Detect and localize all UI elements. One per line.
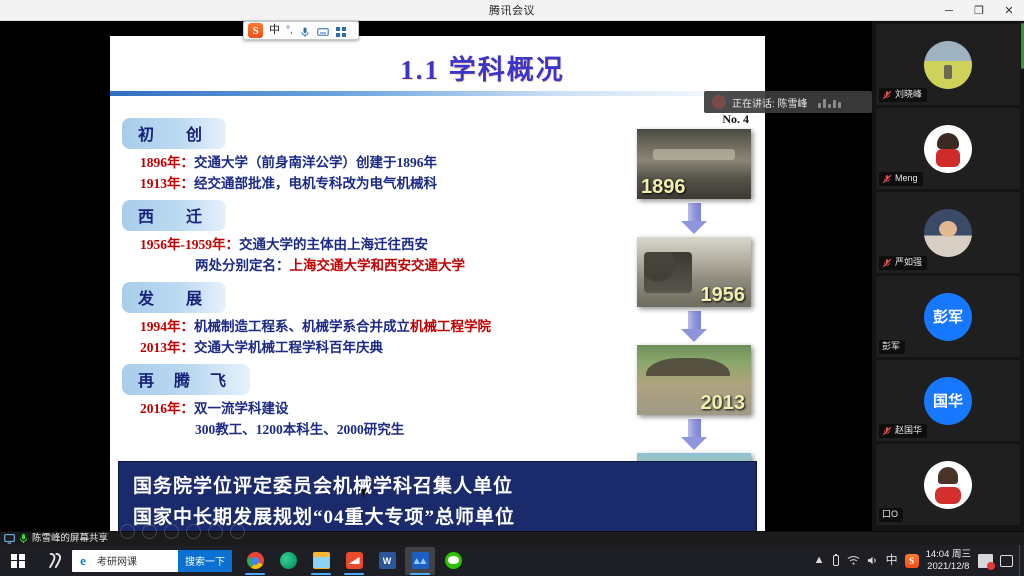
- banner-line: 国务院学位评定委员会机械学科召集人单位: [133, 471, 756, 498]
- bullet-text: 300教工、1200本科生、2000研究生: [195, 422, 404, 437]
- audio-wave-icon: [818, 97, 841, 108]
- maximize-button[interactable]: ❐: [964, 0, 994, 21]
- ime-punctuation-toggle[interactable]: °,: [286, 26, 293, 36]
- bullet-text: 交通大学的主体由上海迁往西安: [239, 237, 428, 252]
- search-query[interactable]: 考研网课: [94, 553, 178, 568]
- participant-tile[interactable]: 口O: [876, 444, 1020, 525]
- mic-muted-icon: [882, 174, 892, 184]
- taskbar-app-edge[interactable]: [273, 547, 303, 575]
- chevron-up-icon[interactable]: ▲: [814, 555, 825, 566]
- grid-icon[interactable]: [335, 25, 347, 37]
- clock-time: 14:04 周三: [926, 549, 971, 561]
- bullet-year: 2016年：: [140, 401, 194, 416]
- avatar: [924, 209, 972, 257]
- photo-year-label: 1896: [641, 176, 686, 199]
- taskbar-app-word[interactable]: W: [372, 547, 402, 575]
- sogou-tray-icon[interactable]: S: [905, 554, 919, 568]
- bullet-year: 1956年-1959年：: [140, 237, 239, 252]
- powerpoint-slide: 1.1 学科概况 No. 4 初 创 1896年：交通大学（前身南洋公学）创建于…: [110, 36, 765, 545]
- taskbar-clock[interactable]: 14:04 周三 2021/12/8: [926, 549, 971, 572]
- participant-tile[interactable]: 刘晓峰: [876, 24, 1020, 105]
- ime-mode-toggle[interactable]: 中: [269, 25, 280, 36]
- next-slide-button[interactable]: [142, 524, 157, 539]
- participant-name: 刘晓峰: [895, 89, 922, 100]
- search-input[interactable]: e 考研网课 搜索一下: [72, 550, 232, 572]
- section-pill: 西 迁: [122, 200, 226, 231]
- mic-muted-icon: [882, 426, 892, 436]
- bullet-line: 1896年：交通大学（前身南洋公学）创建于1896年: [140, 152, 612, 173]
- bullet-line: 1956年-1959年：交通大学的主体由上海迁往西安: [140, 234, 612, 255]
- section-bullets: 1956年-1959年：交通大学的主体由上海迁往西安 两处分别定名：上海交通大学…: [140, 234, 612, 276]
- participant-label: 刘晓峰: [879, 88, 927, 102]
- photo-year-label: 2013: [701, 392, 746, 415]
- more-options-button[interactable]: [230, 524, 245, 539]
- bullet-line: 300教工、1200本科生、2000研究生: [140, 419, 612, 440]
- bullet-line: 1994年：机械制造工程系、机械学系合并成立机械工程学院: [140, 316, 612, 337]
- section-bullets: 2016年：双一流学科建设 300教工、1200本科生、2000研究生: [140, 398, 612, 440]
- mic-muted-icon: [882, 90, 892, 100]
- bullet-year: 1994年：: [140, 319, 194, 334]
- window-controls: ─ ❐ ✕: [934, 0, 1024, 21]
- slide-content-column: 初 创 1896年：交通大学（前身南洋公学）创建于1896年 1913年：经交通…: [122, 118, 612, 446]
- taskbar-app-chrome[interactable]: [240, 547, 270, 575]
- slide-page-number: No. 4: [722, 112, 749, 127]
- participant-label: 严如强: [879, 256, 927, 270]
- bullet-text: 机械制造工程系、机械学系合并成立: [194, 319, 410, 334]
- taskbar-app-tencent-meeting[interactable]: [405, 547, 435, 575]
- edge-legacy-icon: e: [72, 553, 94, 569]
- notification-icon[interactable]: [978, 554, 993, 568]
- keyboard-icon[interactable]: [317, 25, 329, 37]
- share-owner-label: 陈雪峰的屏幕共享: [32, 533, 108, 544]
- participant-name: 彭军: [882, 341, 900, 352]
- participant-name: Meng: [895, 173, 918, 184]
- slide-section: 初 创 1896年：交通大学（前身南洋公学）创建于1896年 1913年：经交通…: [122, 118, 612, 194]
- bullet-line: 2016年：双一流学科建设: [140, 398, 612, 419]
- minimize-button[interactable]: ─: [934, 0, 964, 21]
- pen-tool-button[interactable]: [164, 524, 179, 539]
- mic-icon[interactable]: [299, 25, 311, 37]
- section-bullets: 1994年：机械制造工程系、机械学系合并成立机械工程学院 2013年：交通大学机…: [140, 316, 612, 358]
- meeting-icon: [412, 552, 429, 569]
- speaking-indicator: 正在讲话: 陈雪峰: [704, 91, 872, 113]
- volume-icon[interactable]: [867, 555, 879, 566]
- wechat-icon: [445, 552, 462, 569]
- wifi-icon[interactable]: [847, 555, 860, 566]
- timeline-photo-2013: 2013: [637, 345, 751, 415]
- slideshow-controls[interactable]: [120, 524, 245, 539]
- mic-green-icon: [19, 533, 28, 544]
- bullet-text: 交通大学机械工程学科百年庆典: [194, 340, 383, 355]
- word-icon: W: [379, 552, 396, 569]
- bullet-text: 双一流学科建设: [194, 401, 289, 416]
- bullet-text: 交通大学（前身南洋公学）创建于1896年: [194, 155, 437, 170]
- bullet-year: 1913年：: [140, 176, 194, 191]
- bullet-text: 经交通部批准，电机专科改为电气机械科: [194, 176, 437, 191]
- taskbar-app-wechat[interactable]: [438, 547, 468, 575]
- speaking-label: 正在讲话: 陈雪峰: [732, 95, 808, 110]
- ime-indicator[interactable]: 中: [886, 555, 898, 566]
- taskbar-app-file-explorer[interactable]: [306, 547, 336, 575]
- windows-logo-icon: [11, 554, 25, 568]
- participant-tile[interactable]: 国华 赵国华: [876, 360, 1020, 441]
- section-pill: 初 创: [122, 118, 226, 149]
- red-app-icon: [346, 552, 363, 569]
- avatar: 彭军: [924, 293, 972, 341]
- system-tray: ▲ 中 S 14:04 周三 2021/12/8: [814, 549, 1019, 572]
- window-titlebar: 腾讯会议 ─ ❐ ✕: [0, 0, 1024, 21]
- bullet-year: 2013年：: [140, 340, 194, 355]
- sogou-ime-toolbar[interactable]: S 中 °,: [243, 21, 359, 40]
- bullet-line: 两处分别定名：上海交通大学和西安交通大学: [140, 255, 612, 276]
- down-arrow-icon: [676, 417, 712, 451]
- edge-icon: [280, 552, 297, 569]
- participant-tile[interactable]: Meng: [876, 108, 1020, 189]
- participant-name: 口O: [882, 509, 898, 520]
- window-title: 腾讯会议: [0, 2, 1024, 18]
- bullet-accent: 上海交通大学和西安交通大学: [290, 258, 466, 273]
- windows-taskbar: e 考研网课 搜索一下 W ▲ 中 S 14:04 周三 2021/12/8: [0, 545, 1024, 576]
- avatar: [924, 41, 972, 89]
- participant-rail[interactable]: 刘晓峰 Meng 严如强 彭军 彭军 国华: [872, 21, 1024, 545]
- slide-section: 发 展 1994年：机械制造工程系、机械学系合并成立机械工程学院 2013年：交…: [122, 282, 612, 358]
- taskbar-app-media[interactable]: [339, 547, 369, 575]
- timeline-photo-1896: 1896: [637, 129, 751, 199]
- title-divider: [110, 91, 765, 96]
- close-button[interactable]: ✕: [994, 0, 1024, 21]
- bullet-accent: 机械工程学院: [410, 319, 491, 334]
- section-pill: 发 展: [122, 282, 226, 313]
- slide-section: 西 迁 1956年-1959年：交通大学的主体由上海迁往西安 两处分别定名：上海…: [122, 200, 612, 276]
- slide-overview-button[interactable]: [186, 524, 201, 539]
- monitor-icon: [4, 534, 15, 544]
- participant-name: 严如强: [895, 257, 922, 268]
- taskbar-apps: W: [240, 547, 468, 575]
- participant-label: 彭军: [879, 340, 905, 354]
- cortana-icon[interactable]: [36, 545, 70, 576]
- participant-label: 赵国华: [879, 424, 927, 438]
- participant-label: 口O: [879, 508, 903, 522]
- battery-icon[interactable]: [832, 554, 840, 567]
- bullet-text: 两处分别定名：: [195, 258, 290, 273]
- section-pill: 再 腾 飞: [122, 364, 250, 395]
- avatar: [924, 125, 972, 173]
- avatar: [924, 461, 972, 509]
- sogou-logo-icon[interactable]: S: [248, 23, 263, 38]
- participant-tile[interactable]: 严如强: [876, 192, 1020, 273]
- avatar: 国华: [924, 377, 972, 425]
- timeline-photo-1956: 1956: [637, 237, 751, 307]
- participant-label: Meng: [879, 172, 923, 186]
- prev-slide-button[interactable]: [120, 524, 135, 539]
- message-icon[interactable]: [1000, 555, 1013, 567]
- bullet-line: 1913年：经交通部批准，电机专科改为电气机械科: [140, 173, 612, 194]
- participant-name: 赵国华: [895, 425, 922, 436]
- chrome-icon: [247, 552, 264, 569]
- search-submit-button[interactable]: 搜索一下: [178, 550, 232, 572]
- down-arrow-icon: [676, 309, 712, 343]
- section-bullets: 1896年：交通大学（前身南洋公学）创建于1896年 1913年：经交通部批准，…: [140, 152, 612, 194]
- start-button[interactable]: [0, 545, 36, 576]
- participant-tile[interactable]: 彭军 彭军: [876, 276, 1020, 357]
- slide-section: 再 腾 飞 2016年：双一流学科建设 300教工、1200本科生、2000研究…: [122, 364, 612, 440]
- speaker-avatar: [712, 95, 726, 109]
- bullet-year: 1896年：: [140, 155, 194, 170]
- mic-muted-icon: [882, 258, 892, 268]
- bullet-line: 2013年：交通大学机械工程学科百年庆典: [140, 337, 612, 358]
- down-arrow-icon: [676, 201, 712, 235]
- folder-icon: [313, 552, 330, 569]
- show-desktop-button[interactable]: [1019, 545, 1024, 576]
- screen-root: 腾讯会议 ─ ❐ ✕ S 中 °, 1.1 学科概况 N: [0, 0, 1024, 576]
- clock-date: 2021/12/8: [926, 561, 971, 573]
- zoom-button[interactable]: [208, 524, 223, 539]
- slide-title: 1.1 学科概况: [110, 48, 765, 87]
- photo-year-label: 1956: [701, 284, 746, 307]
